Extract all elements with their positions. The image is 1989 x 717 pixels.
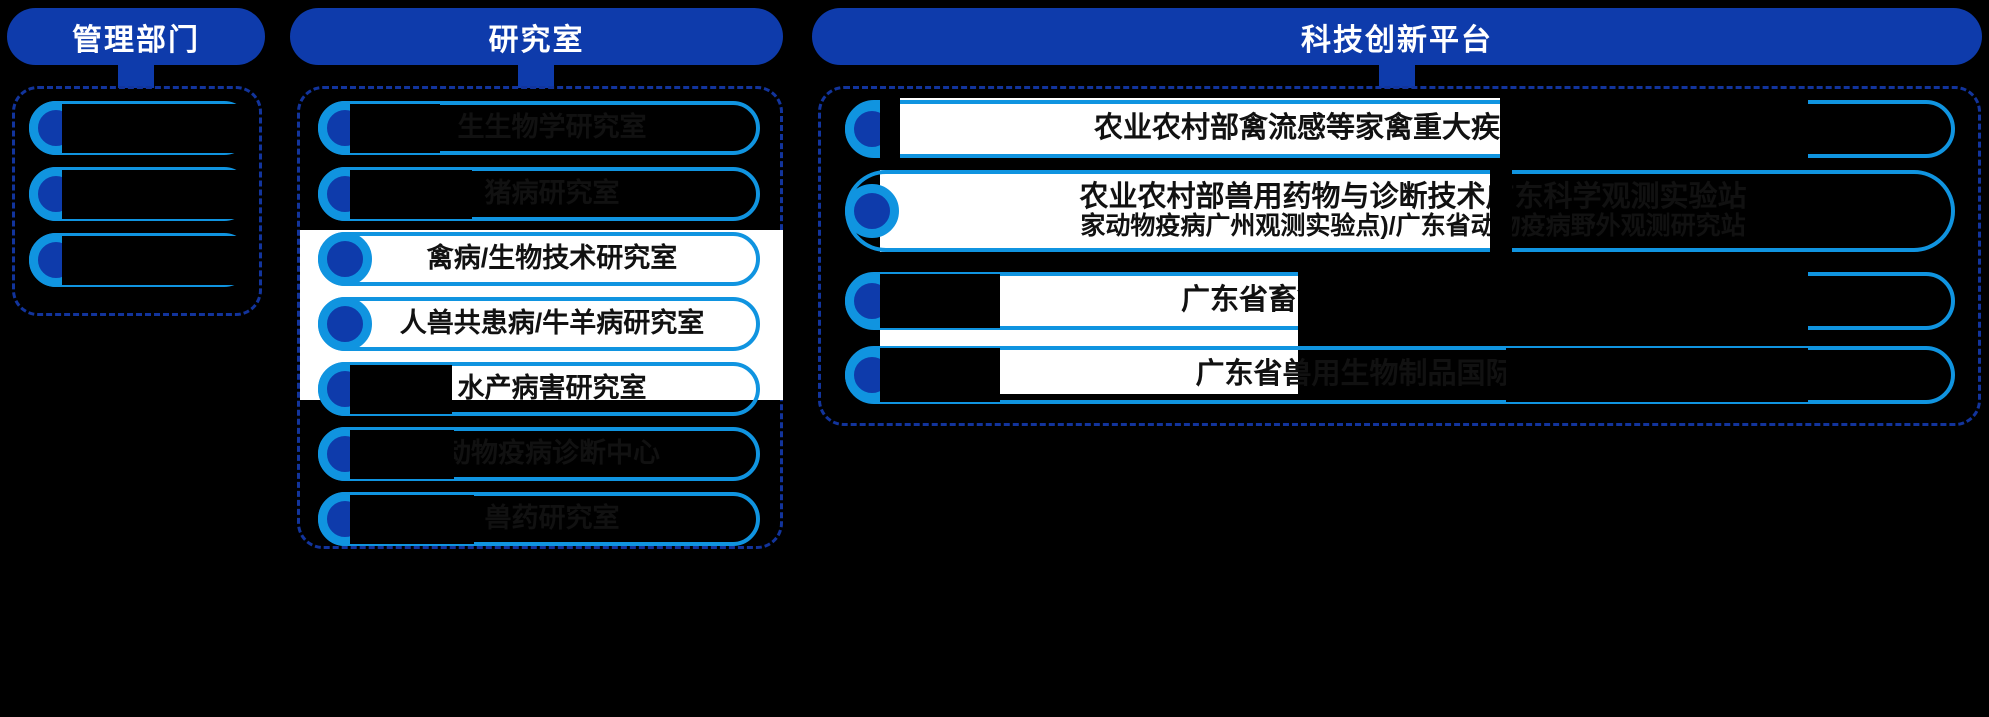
list-item[interactable]: 人兽共患病/牛羊病研究室 xyxy=(318,297,760,351)
list-item[interactable]: 农业农村部兽用药物与诊断技术广东科学观测实验站 家动物疫病广州观测实验点)/广东… xyxy=(845,170,1955,252)
occlusion-patch xyxy=(880,94,900,158)
occlusion-patch xyxy=(350,365,452,414)
occlusion-patch xyxy=(350,170,472,219)
occlusion-patch xyxy=(880,348,1000,402)
list-item-label-main: 农业农村部兽用药物与诊断技术广东科学观测实验站 xyxy=(1079,181,1746,213)
occlusion-patch xyxy=(1506,348,1808,402)
list-item-label-sub: 家动物疫病广州观测实验点)/广东省动物疫病野外观测研究站 xyxy=(875,213,1951,240)
list-item-label: 禽病/生物技术研究室 xyxy=(322,244,756,273)
column-header-platform[interactable]: 科技创新平台 xyxy=(812,8,1982,65)
occlusion-patch xyxy=(62,170,252,219)
occlusion-patch xyxy=(350,104,440,153)
header-stem-admin xyxy=(118,62,154,88)
column-header-admin-label: 管理部门 xyxy=(72,15,200,59)
occlusion-patch xyxy=(1500,98,1808,158)
column-header-labs[interactable]: 研究室 xyxy=(290,8,783,65)
header-stem-platform xyxy=(1379,62,1415,88)
list-item-label: 农业农村部兽用药物与诊断技术广东科学观测实验站 家动物疫病广州观测实验点)/广东… xyxy=(849,182,1951,240)
occlusion-patch xyxy=(880,274,1000,328)
list-item[interactable]: 禽病/生物技术研究室 xyxy=(318,232,760,286)
header-stem-labs xyxy=(518,62,554,88)
occlusion-patch xyxy=(1298,272,1808,330)
occlusion-patch xyxy=(350,495,474,544)
column-header-platform-label: 科技创新平台 xyxy=(1301,15,1493,59)
column-header-labs-label: 研究室 xyxy=(489,15,585,59)
diagram-canvas: 管理部门 研究室 生生物学研究室 猪病研究室 禽病/生物技术研究室 xyxy=(0,0,1989,717)
column-header-admin[interactable]: 管理部门 xyxy=(7,8,265,65)
occlusion-patch xyxy=(350,430,454,479)
occlusion-patch xyxy=(62,236,252,285)
occlusion-patch xyxy=(1490,170,1512,252)
list-item-label: 人兽共患病/牛羊病研究室 xyxy=(322,309,756,338)
occlusion-patch xyxy=(62,104,252,153)
